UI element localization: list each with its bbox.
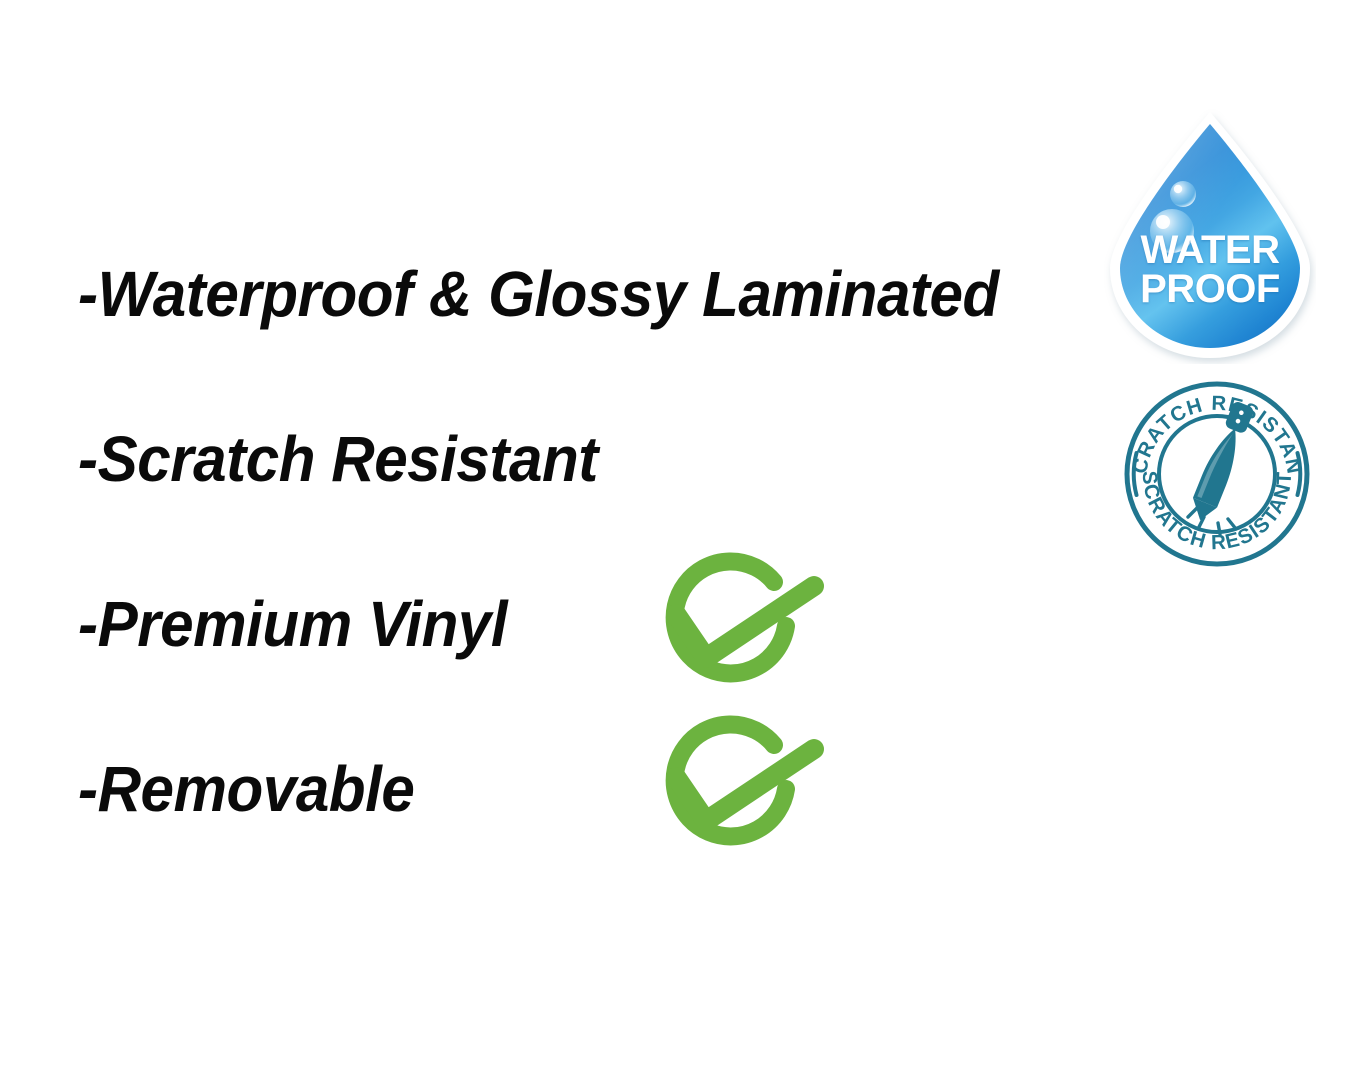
waterproof-badge: WATER PROOF [1104, 108, 1316, 364]
check-circle-icon [638, 552, 843, 712]
feature-item-premium-vinyl: -Premium Vinyl [78, 592, 507, 656]
feature-list: -Waterproof & Glossy Laminated -Scratch … [0, 0, 1100, 1080]
feature-item-removable: -Removable [78, 757, 414, 821]
feature-item-scratch-resistant: -Scratch Resistant [78, 427, 598, 491]
feature-item-waterproof-glossy-laminated: -Waterproof & Glossy Laminated [78, 262, 999, 326]
scratch-resistant-badge: SCRATCH RESISTANT SCRATCH RESISTANT [1124, 381, 1310, 567]
promo-feature-panel: -Waterproof & Glossy Laminated -Scratch … [0, 0, 1359, 1080]
check-circle-icon [638, 715, 843, 875]
